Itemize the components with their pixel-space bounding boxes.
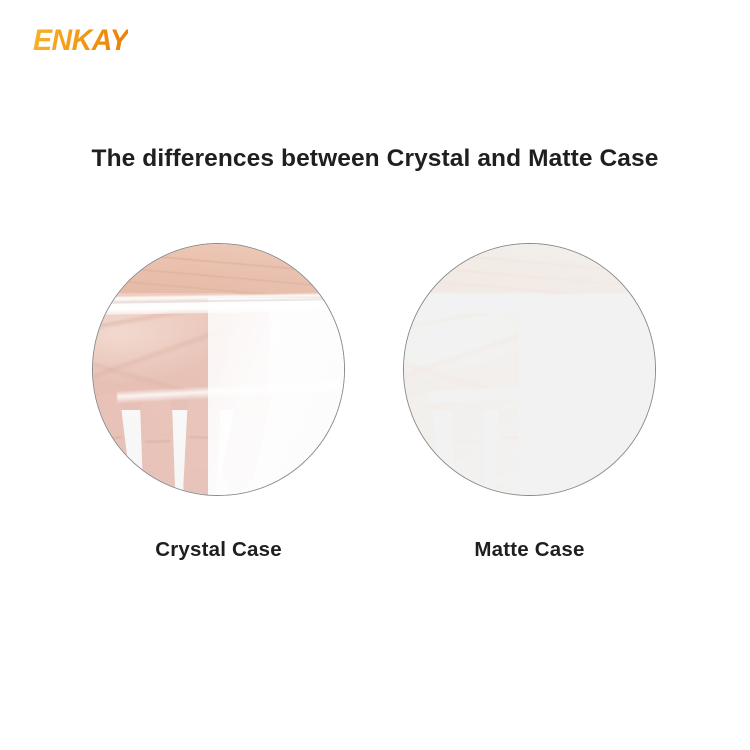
- case-comparison-section: [0, 243, 750, 503]
- scene-light-veil: [92, 243, 345, 496]
- sample-crystal-case: [92, 243, 345, 496]
- crystal-case-scene: [92, 243, 345, 496]
- scene-light-veil: [403, 243, 656, 496]
- sample-matte-case: [403, 243, 656, 496]
- product-comparison-page: ENKAY The differences between Crystal an…: [0, 0, 750, 750]
- caption-matte-case: Matte Case: [403, 538, 656, 562]
- caption-crystal-case: Crystal Case: [92, 538, 345, 562]
- matte-case-photo-circle: [403, 243, 656, 496]
- matte-case-scene: [403, 243, 656, 496]
- crystal-case-photo-circle: [92, 243, 345, 496]
- enkay-brand-logo: ENKAY: [33, 26, 128, 56]
- page-title: The differences between Crystal and Matt…: [0, 145, 750, 173]
